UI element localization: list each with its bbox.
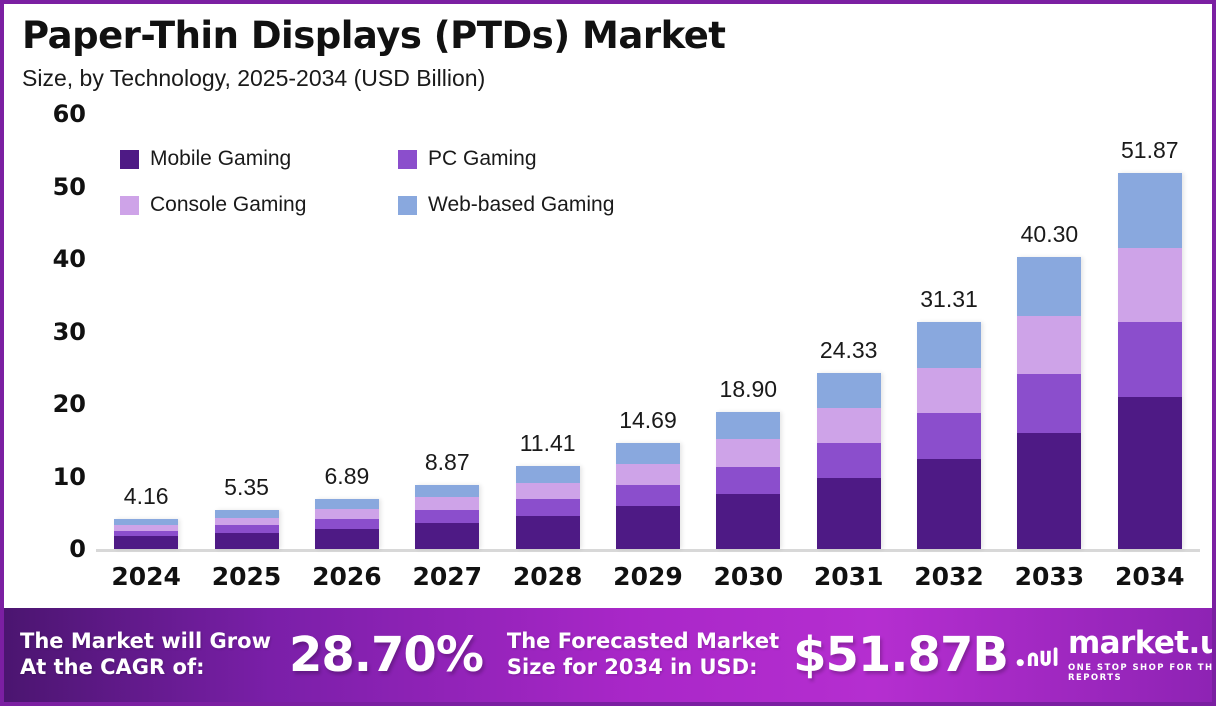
bar-group[interactable]: 40.30 [999,114,1099,549]
x-axis-tick-label: 2033 [999,562,1099,591]
bar-segment[interactable] [616,506,680,549]
bar-segment[interactable] [415,523,479,549]
bar-stack[interactable] [215,510,279,549]
x-axis-tick-label: 2034 [1100,562,1200,591]
bar-segment[interactable] [917,413,981,459]
infographic-root: Paper-Thin Displays (PTDs) Market Size, … [0,0,1216,706]
bar-segment[interactable] [516,483,580,499]
bar-group[interactable]: 51.87 [1100,114,1200,549]
cagr-caption-line1: The Market will Grow [20,629,271,653]
bar-stack[interactable] [817,373,881,549]
bar-group[interactable]: 6.89 [297,114,397,549]
bar-segment[interactable] [1017,316,1081,375]
bar-group[interactable]: 8.87 [397,114,497,549]
bar-segment[interactable] [917,368,981,414]
bar-group[interactable]: 4.16 [96,114,196,549]
x-axis-tick-label: 2031 [799,562,899,591]
bar-segment[interactable] [315,499,379,509]
bar-total-label: 5.35 [196,474,296,501]
bar-stack[interactable] [315,499,379,549]
forecast-caption-line2: Size for 2034 in USD: [507,655,779,681]
chart-subtitle: Size, by Technology, 2025-2034 (USD Bill… [22,65,1202,92]
bar-segment[interactable] [716,439,780,466]
bar-segment[interactable] [516,499,580,515]
x-axis-tick-label: 2026 [297,562,397,591]
plot-canvas: 4.165.356.898.8711.4114.6918.9024.3331.3… [96,114,1200,552]
bar-stack[interactable] [114,519,178,549]
bar-total-label: 4.16 [96,483,196,510]
bar-segment[interactable] [1017,374,1081,433]
cagr-caption-line2: At the CAGR of: [20,655,271,681]
page-title: Paper-Thin Displays (PTDs) Market [22,16,1202,57]
bar-total-label: 11.41 [497,430,597,457]
bar-segment[interactable] [817,373,881,408]
bar-series-container: 4.165.356.898.8711.4114.6918.9024.3331.3… [96,114,1200,549]
cagr-value: 28.70% [289,627,483,683]
x-axis-tick-label: 2028 [497,562,597,591]
bar-total-label: 24.33 [799,337,899,364]
bar-segment[interactable] [315,509,379,519]
bar-segment[interactable] [1017,433,1081,549]
forecast-caption-line1: The Forecasted Market [507,629,779,653]
logo-wordmark: market.us [1068,628,1212,659]
y-axis-tick-label: 10 [53,463,86,491]
bar-total-label: 6.89 [297,463,397,490]
bar-segment[interactable] [616,485,680,506]
bar-total-label: 31.31 [899,286,999,313]
bar-segment[interactable] [616,443,680,464]
x-axis-tick-label: 2027 [397,562,497,591]
bar-segment[interactable] [215,518,279,526]
bar-segment[interactable] [415,485,479,498]
bar-segment[interactable] [716,494,780,549]
x-axis-tick-label: 2030 [698,562,798,591]
bar-segment[interactable] [1118,322,1182,397]
y-axis-tick-label: 50 [53,173,86,201]
bar-segment[interactable] [817,408,881,443]
bar-stack[interactable] [1017,257,1081,549]
bar-total-label: 51.87 [1100,137,1200,164]
bar-total-label: 18.90 [698,376,798,403]
bar-segment[interactable] [917,322,981,368]
forecast-value: $51.87B [793,627,1008,683]
bar-stack[interactable] [716,412,780,549]
bar-segment[interactable] [917,459,981,549]
bar-segment[interactable] [215,510,279,518]
bar-segment[interactable] [616,464,680,485]
bar-segment[interactable] [415,497,479,510]
y-axis-tick-label: 60 [53,100,86,128]
bar-segment[interactable] [516,516,580,549]
bar-segment[interactable] [1118,173,1182,248]
x-axis-tick-label: 2025 [196,562,296,591]
y-axis-tick-label: 20 [53,390,86,418]
bar-group[interactable]: 31.31 [899,114,999,549]
bar-total-label: 14.69 [598,407,698,434]
bar-segment[interactable] [315,529,379,550]
bar-segment[interactable] [315,519,379,529]
bar-stack[interactable] [917,322,981,549]
bottom-banner: The Market will Grow At the CAGR of: 28.… [4,608,1212,702]
x-axis: 2024202520262027202820292030203120322033… [96,562,1200,591]
bar-group[interactable]: 14.69 [598,114,698,549]
bar-total-label: 40.30 [999,221,1099,248]
bar-segment[interactable] [415,510,479,523]
bar-segment[interactable] [1017,257,1081,316]
bar-segment[interactable] [817,443,881,478]
bar-stack[interactable] [616,443,680,550]
bar-group[interactable]: 18.90 [698,114,798,549]
y-axis: 0102030405060 [24,114,86,549]
forecast-caption: The Forecasted Market Size for 2034 in U… [507,629,779,680]
y-axis-tick-label: 30 [53,318,86,346]
x-axis-tick-label: 2029 [598,562,698,591]
plot-area: 0102030405060 4.165.356.898.8711.4114.69… [4,114,1212,604]
x-axis-tick-label: 2024 [96,562,196,591]
bar-segment[interactable] [1118,248,1182,323]
bar-segment[interactable] [1118,397,1182,549]
cagr-caption: The Market will Grow At the CAGR of: [20,629,271,680]
bar-total-label: 8.87 [397,449,497,476]
bar-group[interactable]: 5.35 [196,114,296,549]
bar-segment[interactable] [516,466,580,482]
bar-stack[interactable] [415,485,479,549]
bar-segment[interactable] [215,525,279,533]
logo-tagline: ONE STOP SHOP FOR THE REPORTS [1068,663,1212,683]
bar-segment[interactable] [716,412,780,439]
market-us-logo[interactable]: market.us ONE STOP SHOP FOR THE REPORTS [1016,628,1212,683]
y-axis-tick-label: 40 [53,245,86,273]
bar-segment[interactable] [114,536,178,549]
x-axis-tick-label: 2032 [899,562,999,591]
bar-group[interactable]: 24.33 [799,114,899,549]
y-axis-tick-label: 0 [69,535,86,563]
bar-stack[interactable] [516,466,580,549]
logo-mark-icon [1016,638,1060,672]
bar-segment[interactable] [215,533,279,549]
bar-group[interactable]: 11.41 [497,114,597,549]
bar-segment[interactable] [817,478,881,549]
chart-header: Paper-Thin Displays (PTDs) Market Size, … [22,16,1202,92]
bar-stack[interactable] [1118,173,1182,549]
bar-segment[interactable] [716,467,780,494]
